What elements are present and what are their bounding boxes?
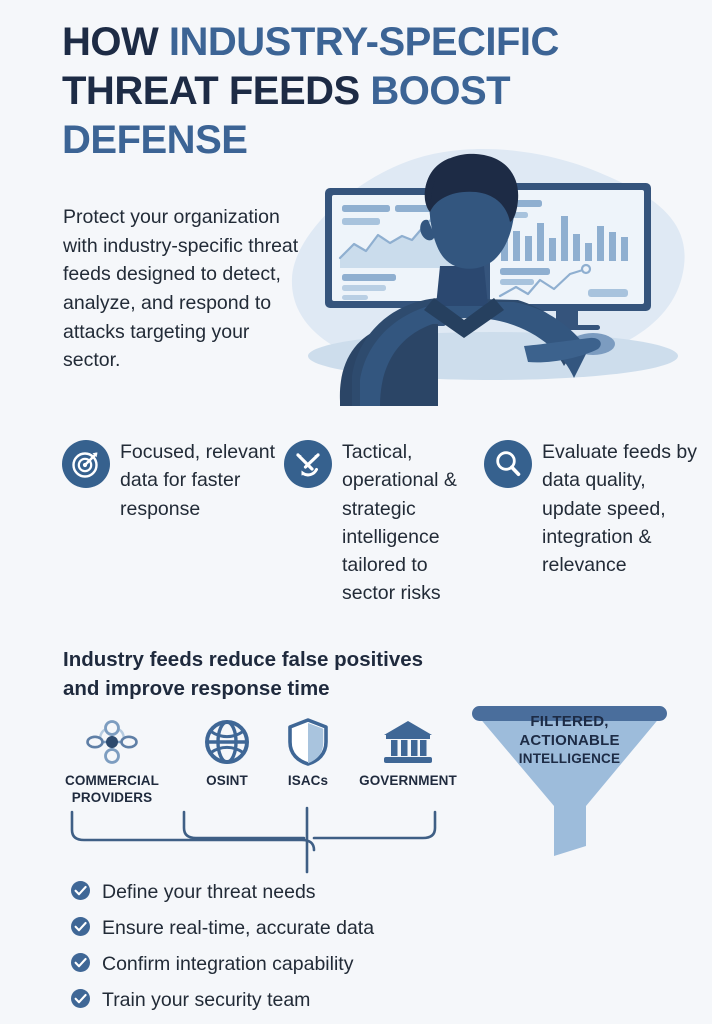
funnel-body	[478, 716, 661, 856]
title-segment-threat-feeds: THREAT FEEDS	[62, 69, 370, 113]
feature-item: Tactical, operational & strategic intell…	[284, 438, 484, 608]
check-circle-icon	[70, 916, 91, 942]
check-circle-icon	[70, 952, 91, 978]
feature-text: Focused, relevant data for faster respon…	[120, 438, 284, 523]
globe-icon	[188, 716, 266, 768]
check-circle-icon	[70, 988, 91, 1014]
section-heading-line1: Industry feeds reduce false positives	[63, 648, 423, 671]
funnel-rim	[472, 706, 667, 721]
threat-feed-sources: COMMERCIAL PROVIDERS OSINT	[48, 716, 478, 811]
source-label: OSINT	[188, 773, 266, 790]
funnel-icon	[462, 694, 677, 859]
title-segment-defense: DEFENSE	[62, 118, 247, 162]
source-label: ISACs	[270, 773, 346, 790]
intro-paragraph: Protect your organization with industry-…	[63, 203, 311, 375]
target-icon	[62, 440, 110, 488]
title-segment-boost: BOOST	[370, 69, 510, 113]
shield-icon	[270, 716, 346, 768]
feature-text: Tactical, operational & strategic intell…	[342, 438, 484, 608]
checklist-item: Define your threat needs	[70, 875, 500, 911]
feature-item: Focused, relevant data for faster respon…	[62, 438, 284, 608]
checklist-text: Confirm integration capability	[102, 953, 353, 976]
source-label: GOVERNMENT	[340, 773, 476, 790]
checklist-text: Train your security team	[102, 989, 310, 1012]
source-isacs: ISACs	[270, 716, 346, 790]
checklist-text: Define your threat needs	[102, 881, 316, 904]
source-commercial-providers: COMMERCIAL PROVIDERS	[48, 716, 176, 807]
title-segment-industry-specific: INDUSTRY-SPECIFIC	[169, 20, 559, 64]
checklist-text: Ensure real-time, accurate data	[102, 917, 374, 940]
feature-text: Evaluate feeds by data quality, update s…	[542, 438, 702, 579]
bank-building-icon	[340, 716, 476, 768]
page-title: HOW INDUSTRY-SPECIFIC THREAT FEEDS BOOST…	[62, 18, 662, 164]
infographic-page: HOW INDUSTRY-SPECIFIC THREAT FEEDS BOOST…	[0, 0, 712, 1024]
check-circle-icon	[70, 880, 91, 906]
magnifier-icon	[484, 440, 532, 488]
source-osint: OSINT	[188, 716, 266, 790]
checklist-item: Ensure real-time, accurate data	[70, 911, 500, 947]
title-segment-how: HOW	[62, 20, 169, 64]
source-government: GOVERNMENT	[340, 716, 476, 790]
feature-item: Evaluate feeds by data quality, update s…	[484, 438, 702, 608]
section-heading: Industry feeds reduce false positives an…	[63, 645, 493, 703]
checklist-item: Confirm integration capability	[70, 947, 500, 983]
feature-list: Focused, relevant data for faster respon…	[62, 438, 702, 608]
network-nodes-icon	[48, 716, 176, 768]
analyst-at-dual-monitors-illustration	[288, 148, 688, 406]
checklist-item: Train your security team	[70, 983, 500, 1019]
crossed-tools-icon	[284, 440, 332, 488]
section-heading-line2: and improve response time	[63, 677, 330, 700]
source-label-line1: COMMERCIAL	[65, 773, 159, 788]
checklist: Define your threat needs Ensure real-tim…	[70, 875, 500, 1019]
